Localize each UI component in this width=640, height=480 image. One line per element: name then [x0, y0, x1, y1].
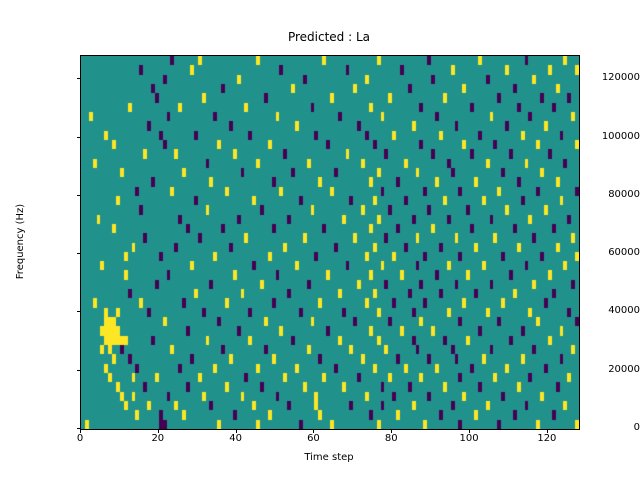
y-tick-label: 20000 — [568, 365, 640, 375]
y-tick-label: 80000 — [568, 190, 640, 200]
y-tick-label: 100000 — [568, 132, 640, 142]
y-tick-mark — [77, 78, 81, 79]
x-tick-label: 0 — [50, 434, 110, 444]
x-tick-label: 40 — [206, 434, 266, 444]
x-axis-label: Time step — [80, 452, 578, 464]
y-tick-mark — [77, 311, 81, 312]
x-tick-mark — [547, 429, 548, 433]
y-tick-mark — [77, 137, 81, 138]
y-tick-mark — [77, 370, 81, 371]
heatmap-image — [81, 56, 579, 429]
heatmap-axes — [80, 55, 580, 430]
x-tick-label: 120 — [517, 434, 577, 444]
x-tick-label: 60 — [283, 434, 343, 444]
y-tick-label: 120000 — [568, 73, 640, 83]
x-tick-mark — [236, 429, 237, 433]
x-tick-label: 80 — [361, 434, 421, 444]
y-axis-label: Frequency (Hz) — [14, 55, 28, 428]
y-tick-mark — [77, 195, 81, 196]
x-tick-mark — [313, 429, 314, 433]
x-tick-mark — [469, 429, 470, 433]
page-title: Predicted : La — [80, 30, 578, 44]
y-tick-label: 40000 — [568, 306, 640, 316]
matplotlib-figure: Predicted : La 0200004000060000800001000… — [0, 0, 640, 480]
y-tick-label: 0 — [568, 423, 640, 433]
x-tick-mark — [158, 429, 159, 433]
y-tick-label: 60000 — [568, 248, 640, 258]
x-tick-mark — [391, 429, 392, 433]
y-tick-mark — [77, 253, 81, 254]
x-tick-mark — [80, 429, 81, 433]
x-tick-label: 100 — [439, 434, 499, 444]
x-tick-label: 20 — [128, 434, 188, 444]
